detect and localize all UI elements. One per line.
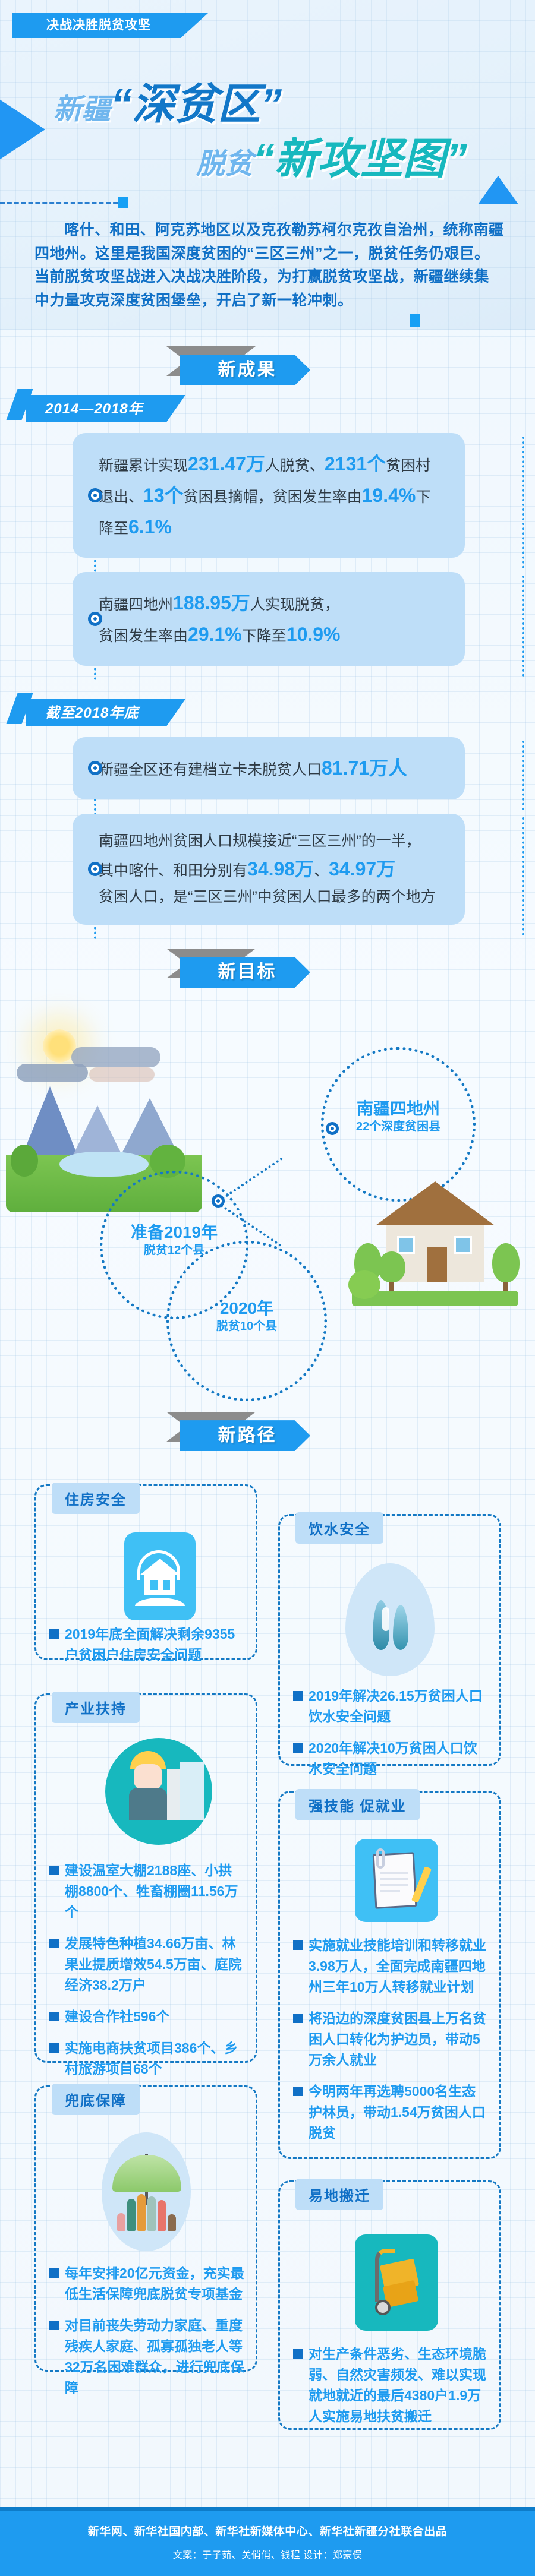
cloud-icon xyxy=(89,1067,155,1082)
person-icon xyxy=(147,2196,156,2231)
hero-title-line-2-big: “新攻坚图” xyxy=(253,135,467,183)
hero-intro-paragraph: 喀什、和田、阿克苏地区以及克孜勒苏柯尔克孜自治州，统称南疆四地州。这里是我国深度… xyxy=(34,219,504,312)
section-goals: 新目标 南疆四地州 22个深度贫困县 准备 xyxy=(0,945,535,1408)
card-right-dotted-rule xyxy=(522,741,524,810)
list-item: 发展特色种植34.66万亩、林果业提质增效54.5万亩、庭院经济38.2万户 xyxy=(49,1933,245,1996)
path-card-industry-title: 产业扶持 xyxy=(52,1692,140,1723)
timeline-group-1: 新疆累计实现231.47万人脱贫、2131个贫困村退出、13个贫困县摘帽，贫困发… xyxy=(0,433,535,680)
bullet-square-icon xyxy=(293,2014,303,2023)
hero-title-line-1: 新疆“深贫区” xyxy=(53,83,282,126)
list-item-text: 今明两年再选聘5000名生态护林员，带动1.54万贫困人口脱贫 xyxy=(309,2081,489,2144)
timeline-marker-icon xyxy=(88,488,102,502)
year-tag-end-2018: 截至2018年底 xyxy=(12,693,184,728)
path-card-skills-list: 实施就业技能培训和转移就业3.98万人，全面完成南疆四地州三年10万人转移就业计… xyxy=(293,1935,489,2154)
path-card-industry-list: 建设温室大棚2188座、小拱棚8800个、牲畜棚圈11.56万个 发展特色种植3… xyxy=(49,1860,245,2090)
bush-icon xyxy=(348,1270,380,1299)
path-card-industry[interactable]: 产业扶持 建设温室大棚2188座、小拱棚8800个、牲畜棚圈11.56万个 发展… xyxy=(34,1693,257,2063)
path-card-relocation-title: 易地搬迁 xyxy=(295,2179,383,2210)
achievement-card: 新疆全区还有建档立卡未脱贫人口81.71万人 xyxy=(73,737,465,799)
year-tag-2014-2018: 2014—2018年 xyxy=(12,389,184,423)
water-drop-icon xyxy=(345,1563,435,1676)
path-card-water[interactable]: 饮水安全 2019年解决26.15万贫困人口饮水安全问题 2020年解决10万贫… xyxy=(278,1514,501,1766)
timeline-marker-icon xyxy=(88,612,102,626)
list-item: 对目前丧失劳动力家庭、重度残疾人家庭、孤寡孤独老人等32万名困难群众，进行兜底保… xyxy=(49,2315,245,2398)
bush-icon xyxy=(11,1145,38,1177)
path-card-safety-net[interactable]: 兜底保障 每年安排20亿元资金，充实最低生活保障兜底脱贫专项基金 xyxy=(34,2085,257,2372)
achievement-card: 南疆四地州188.95万人实现脱贫，贫困发生率由29.1%下降至10.9% xyxy=(73,572,465,666)
person-icon xyxy=(168,2214,176,2231)
banner-goals-label: 新目标 xyxy=(194,959,301,985)
hero-square-marker xyxy=(118,197,128,208)
goal-bubble-title: 2020年 xyxy=(178,1298,315,1319)
footer-credits-line-1: 新华网、新华社国内部、新华社新媒体中心、新华社新疆分社联合出品 xyxy=(0,2523,535,2539)
cloud-icon xyxy=(71,1047,160,1067)
list-item-text: 对生产条件恶劣、生态环境脆弱、自然灾害频发、难以实现就地就近的最后4380户1.… xyxy=(309,2344,489,2427)
list-item: 建设温室大棚2188座、小拱棚8800个、牲畜棚圈11.56万个 xyxy=(49,1860,245,1923)
timeline-row: 新疆累计实现231.47万人脱贫、2131个贫困村退出、13个贫困县摘帽，贫困发… xyxy=(0,433,535,572)
banner-achievements-label: 新成果 xyxy=(194,357,301,383)
bullet-square-icon xyxy=(293,2349,303,2359)
list-item-text: 2019年底全面解决剩余9355户贫困户住房安全问题 xyxy=(65,1624,245,1665)
path-card-relocation-list: 对生产条件恶劣、生态环境脆弱、自然灾害频发、难以实现就地就近的最后4380户1.… xyxy=(293,2344,489,2438)
house-door-icon xyxy=(427,1247,447,1282)
bullet-square-icon xyxy=(49,2012,59,2021)
page-footer: 新华网、新华社国内部、新华社新媒体中心、新华社新疆分社联合出品 文案：于子茹、关… xyxy=(0,2507,535,2576)
hero-title-line-1-small: 新疆 xyxy=(53,94,111,125)
bullet-square-icon xyxy=(49,1629,59,1639)
bullet-square-icon xyxy=(293,1691,303,1701)
list-item: 建设合作社596个 xyxy=(49,2006,245,2027)
list-item: 2019年解决26.15万贫困人口饮水安全问题 xyxy=(293,1686,489,1727)
list-item-text: 每年安排20亿元资金，充实最低生活保障兜底脱贫专项基金 xyxy=(65,2263,245,2305)
timeline-group-2: 新疆全区还有建档立卡未脱贫人口81.71万人 南疆四地州贫困人口规模接近“三区三… xyxy=(0,737,535,939)
section-paths: 新路径 住房安全 2019年底全面解决剩余9355户贫困户住房安全问题 饮水安全 xyxy=(0,1408,535,2382)
worker-industry-icon xyxy=(105,1738,212,1845)
house-window-icon xyxy=(454,1236,472,1254)
list-item-text: 2019年解决26.15万贫困人口饮水安全问题 xyxy=(309,1686,489,1727)
path-card-housing-list: 2019年底全面解决剩余9355户贫困户住房安全问题 xyxy=(49,1624,245,1676)
list-item: 对生产条件恶劣、生态环境脆弱、自然灾害频发、难以实现就地就近的最后4380户1.… xyxy=(293,2344,489,2427)
bullet-square-icon xyxy=(49,2043,59,2053)
footer-credits-line-2: 文案：于子茹、关俏俏、钱程 设计：郑豪俣 xyxy=(0,2547,535,2561)
bullet-square-icon xyxy=(293,1743,303,1753)
goal-bubble-nanjiang-label: 南疆四地州 22个深度贫困县 xyxy=(333,1098,464,1135)
list-item: 2019年底全面解决剩余9355户贫困户住房安全问题 xyxy=(49,1624,245,1665)
path-card-housing[interactable]: 住房安全 2019年底全面解决剩余9355户贫困户住房安全问题 xyxy=(34,1484,257,1660)
list-item: 今明两年再选聘5000名生态护林员，带动1.54万贫困人口脱贫 xyxy=(293,2081,489,2144)
house-scenery-illustration xyxy=(352,1171,518,1319)
person-icon xyxy=(117,2213,125,2231)
bullet-square-icon xyxy=(49,2268,59,2278)
bullet-square-icon xyxy=(293,2087,303,2096)
list-item-text: 将沿边的深度贫困县上万名贫困人口转化为护边员，带动5万余人就业 xyxy=(309,2008,489,2071)
bullet-square-icon xyxy=(293,1940,303,1950)
person-icon xyxy=(137,2194,146,2231)
bullet-square-icon xyxy=(49,2321,59,2330)
goal-node-marker-icon xyxy=(212,1194,225,1208)
achievement-card: 新疆累计实现231.47万人脱贫、2131个贫困村退出、13个贫困县摘帽，贫困发… xyxy=(73,433,465,558)
hero-square-marker-bottom xyxy=(410,314,420,327)
banner-achievements: 新成果 xyxy=(166,343,369,389)
section-achievements: 新成果 2014—2018年 新疆累计实现231.47万人脱贫、2131个贫困村… xyxy=(0,330,535,939)
goal-bubble-title: 准备2019年 xyxy=(107,1222,241,1243)
list-item-text: 实施就业技能培训和转移就业3.98万人，全面完成南疆四地州三年10万人转移就业计… xyxy=(309,1935,489,1997)
path-card-water-list: 2019年解决26.15万贫困人口饮水安全问题 2020年解决10万贫困人口饮水… xyxy=(293,1686,489,1790)
document-pen-icon xyxy=(355,1839,438,1922)
goal-node-marker-icon xyxy=(326,1122,339,1135)
list-item-text: 建设合作社596个 xyxy=(65,2006,169,2027)
ach-text: 南疆四地州188.95万人实现脱贫，贫困发生率由29.1%下降至10.9% xyxy=(99,596,341,644)
goal-bubble-sub: 脱贫10个县 xyxy=(178,1319,315,1335)
moving-cart-icon xyxy=(355,2234,438,2331)
ach-text: 南疆四地州贫困人口规模接近“三区三州”的一半，其中喀什、和田分别有34.98万、… xyxy=(99,833,436,905)
banner-goals: 新目标 xyxy=(166,945,369,991)
hero-header: 决战决胜脱贫攻坚 新疆“深贫区” 脱贫“新攻坚图” 喀什、和田、阿克苏地区以及克… xyxy=(0,0,535,330)
path-card-water-title: 饮水安全 xyxy=(295,1512,383,1544)
list-item: 实施电商扶贫项目386个、乡村旅游项目68个 xyxy=(49,2038,245,2079)
house-roof xyxy=(376,1181,495,1225)
house-safety-icon xyxy=(124,1532,196,1620)
list-item: 将沿边的深度贫困县上万名贫困人口转化为护边员，带动5万余人就业 xyxy=(293,2008,489,2071)
list-item: 2020年解决10万贫困人口饮水安全问题 xyxy=(293,1738,489,1780)
infographic-page: 决战决胜脱贫攻坚 新疆“深贫区” 脱贫“新攻坚图” 喀什、和田、阿克苏地区以及克… xyxy=(0,0,535,2576)
bullet-square-icon xyxy=(49,1939,59,1948)
hero-title-line-2: 脱贫“新攻坚图” xyxy=(196,138,467,181)
tree-crown xyxy=(492,1243,520,1282)
bullet-square-icon xyxy=(49,1866,59,1875)
timeline-row: 南疆四地州贫困人口规模接近“三区三州”的一半，其中喀什、和田分别有34.98万、… xyxy=(0,814,535,939)
year-tag-label: 截至2018年底 xyxy=(45,700,139,726)
path-card-skills-title: 强技能 促就业 xyxy=(295,1789,420,1820)
goal-bubble-2020-label: 2020年 脱贫10个县 xyxy=(178,1298,315,1335)
banner-paths-label: 新路径 xyxy=(194,1423,301,1449)
goal-bubble-title: 南疆四地州 xyxy=(333,1098,464,1119)
timeline-row: 南疆四地州188.95万人实现脱贫，贫困发生率由29.1%下降至10.9% xyxy=(0,572,535,680)
ach-text: 新疆全区还有建档立卡未脱贫人口81.71万人 xyxy=(99,761,407,778)
ach-text: 新疆累计实现231.47万人脱贫、2131个贫困村退出、13个贫困县摘帽，贫困发… xyxy=(99,457,430,537)
timeline-row: 新疆全区还有建档立卡未脱贫人口81.71万人 xyxy=(0,737,535,814)
hero-title-line-2-small: 脱贫 xyxy=(196,148,253,180)
footer-top-rule xyxy=(0,2507,535,2511)
river-icon xyxy=(59,1152,149,1177)
list-item: 实施就业技能培训和转移就业3.98万人，全面完成南疆四地州三年10万人转移就业计… xyxy=(293,1935,489,1997)
card-right-dotted-rule xyxy=(522,817,524,935)
path-card-safety-net-title: 兜底保障 xyxy=(52,2084,140,2115)
hero-title-line-1-big: “深贫区” xyxy=(111,81,282,128)
hero-arrow-shape xyxy=(0,83,45,176)
path-card-safety-net-list: 每年安排20亿元资金，充实最低生活保障兜底脱贫专项基金 对目前丧失劳动力家庭、重… xyxy=(49,2263,245,2409)
year-tag-label: 2014—2018年 xyxy=(45,396,143,422)
achievement-card: 南疆四地州贫困人口规模接近“三区三州”的一半，其中喀什、和田分别有34.98万、… xyxy=(73,814,465,925)
list-item: 每年安排20亿元资金，充实最低生活保障兜底脱贫专项基金 xyxy=(49,2263,245,2305)
path-card-skills[interactable]: 强技能 促就业 实施就业技能培训和转移就业3.98万人，全面完成南疆四地州三年1… xyxy=(278,1791,501,2159)
tree-crown xyxy=(378,1251,405,1282)
list-item-text: 建设温室大棚2188座、小拱棚8800个、牲畜棚圈11.56万个 xyxy=(65,1860,245,1923)
path-card-housing-title: 住房安全 xyxy=(52,1483,140,1514)
card-right-dotted-rule xyxy=(522,437,524,568)
list-item-text: 对目前丧失劳动力家庭、重度残疾人家庭、孤寡孤独老人等32万名困难群众，进行兜底保… xyxy=(65,2315,245,2398)
umbrella-family-icon xyxy=(102,2132,191,2251)
hero-triangle-icon xyxy=(478,176,518,204)
list-item-text: 发展特色种植34.66万亩、林果业提质增效54.5万亩、庭院经济38.2万户 xyxy=(65,1933,245,1996)
person-icon xyxy=(127,2199,136,2231)
list-item-text: 2020年解决10万贫困人口饮水安全问题 xyxy=(309,1738,489,1780)
goal-bubble-sub: 22个深度贫困县 xyxy=(333,1119,464,1135)
hero-dashed-rule xyxy=(0,202,125,204)
list-item-text: 实施电商扶贫项目386个、乡村旅游项目68个 xyxy=(65,2038,245,2079)
card-right-dotted-rule xyxy=(522,576,524,677)
banner-paths: 新路径 xyxy=(166,1408,369,1455)
person-icon xyxy=(158,2200,166,2231)
path-card-relocation[interactable]: 易地搬迁 对生产条件恶劣、生态环境脆弱、自然灾害频发、难以实现就地就近的最后43… xyxy=(278,2180,501,2430)
hero-kicker-badge: 决战决胜脱贫攻坚 xyxy=(12,13,208,38)
